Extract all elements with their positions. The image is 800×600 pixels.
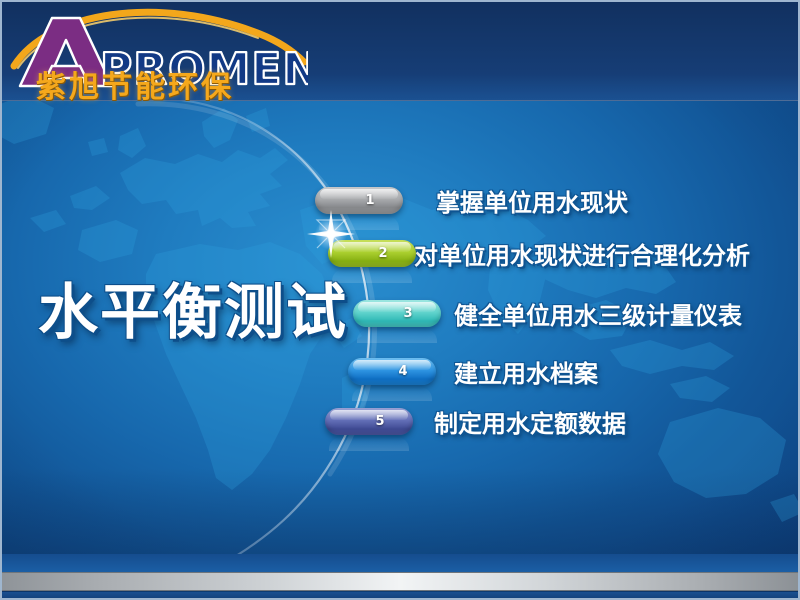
step-number: 5 xyxy=(375,414,384,429)
bottom-navy-lower xyxy=(0,592,800,600)
step-number: 2 xyxy=(378,246,387,261)
list-item-label: 健全单位用水三级计量仪表 xyxy=(454,296,742,331)
step-pill-3[interactable]: 3 xyxy=(353,300,441,327)
list-item-label: 对单位用水现状进行合理化分析 xyxy=(414,236,750,271)
step-number: 1 xyxy=(365,193,374,208)
step-pill-5[interactable]: 5 xyxy=(325,408,413,435)
pill-reflection xyxy=(332,269,412,283)
step-number: 4 xyxy=(398,364,407,379)
list-item-label: 制定用水定额数据 xyxy=(434,404,626,439)
list-item[interactable]: 3 健全单位用水三级计量仪表 xyxy=(353,296,742,331)
star-sparkle xyxy=(305,208,357,260)
bullet-list: 1 掌握单位用水现状 2 对单位用水现状进行合理化分析 3 健全单位用水三级计量… xyxy=(0,0,800,600)
step-pill-4[interactable]: 4 xyxy=(348,358,436,385)
pill-reflection xyxy=(357,329,437,343)
list-item-label: 建立用水档案 xyxy=(454,354,598,389)
slide-canvas: PROMEN 紫旭节能环保 水平衡测试 1 xyxy=(0,0,800,600)
pill-reflection xyxy=(352,387,432,401)
list-item[interactable]: 5 制定用水定额数据 xyxy=(325,404,626,439)
bottom-silver-strip xyxy=(0,572,800,591)
bottom-navy-upper xyxy=(0,554,800,572)
list-item-label: 掌握单位用水现状 xyxy=(436,183,628,218)
list-item[interactable]: 2 对单位用水现状进行合理化分析 xyxy=(328,236,750,271)
pill-reflection xyxy=(329,437,409,451)
list-item[interactable]: 4 建立用水档案 xyxy=(348,354,598,389)
step-number: 3 xyxy=(403,306,412,321)
silver-gradient-bar xyxy=(0,554,800,600)
list-item[interactable]: 1 掌握单位用水现状 xyxy=(315,183,628,218)
